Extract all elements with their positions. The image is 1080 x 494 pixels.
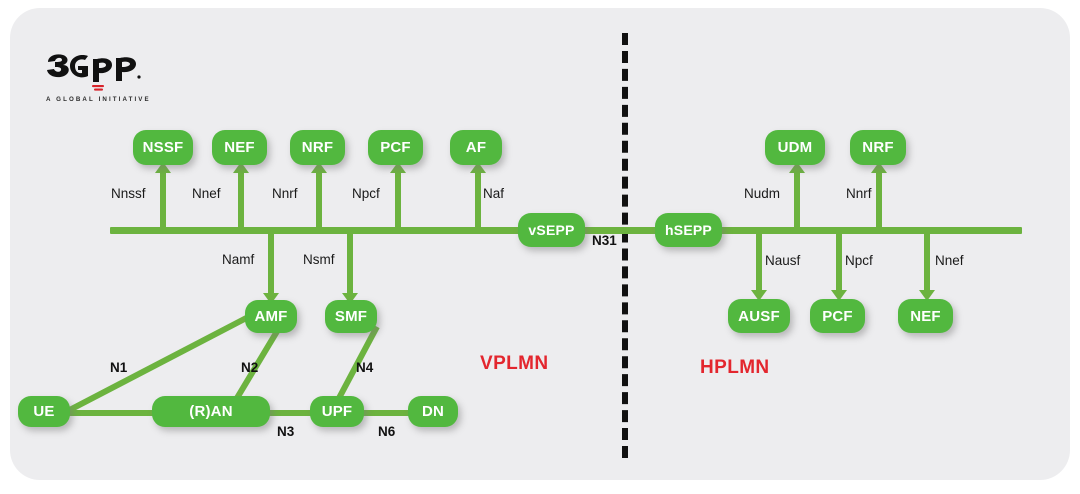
- node-label: AF: [466, 139, 486, 156]
- node-ausf[interactable]: AUSF: [728, 299, 790, 333]
- node-nrf-hplmn[interactable]: NRF: [850, 130, 906, 165]
- link-n6: [362, 410, 412, 416]
- interface-label-nnssf: Nnssf: [111, 186, 146, 201]
- reference-point-n4: N4: [356, 360, 373, 375]
- node-label: NEF: [224, 139, 255, 156]
- reference-point-n6: N6: [378, 424, 395, 439]
- node-label: NSSF: [143, 139, 184, 156]
- connector-nnef: [238, 172, 244, 230]
- node-amf[interactable]: AMF: [245, 300, 297, 333]
- node-nef-hplmn[interactable]: NEF: [898, 299, 953, 333]
- vplmn-service-bus: [110, 227, 550, 234]
- node-label: (R)AN: [189, 403, 233, 420]
- connector-naf: [475, 172, 481, 230]
- node-upf[interactable]: UPF: [310, 396, 364, 427]
- reference-point-n1: N1: [110, 360, 127, 375]
- connector-nnrf-hplmn: [876, 172, 882, 230]
- connector-namf: [268, 230, 274, 293]
- node-af[interactable]: AF: [450, 130, 502, 165]
- diagram-canvas: A GLOBAL INITIATIVE NSSF NEF NRF PCF AF …: [0, 0, 1080, 494]
- connector-nnssf: [160, 172, 166, 230]
- node-label: AMF: [254, 308, 287, 325]
- connector-npcf: [395, 172, 401, 230]
- plmn-boundary-divider: [622, 33, 628, 458]
- node-smf[interactable]: SMF: [325, 300, 377, 333]
- node-label: UE: [33, 403, 54, 420]
- 3gpp-logo-mark: [44, 52, 164, 100]
- node-label: PCF: [822, 308, 853, 325]
- node-label: UDM: [778, 139, 813, 156]
- node-hsepp[interactable]: hSEPP: [655, 213, 722, 247]
- interface-label-nsmf: Nsmf: [303, 252, 335, 267]
- connector-nausf: [756, 230, 762, 290]
- 3gpp-logo: A GLOBAL INITIATIVE: [44, 52, 164, 112]
- node-label: DN: [422, 403, 444, 420]
- interface-label-naf: Naf: [483, 186, 504, 201]
- node-vsepp[interactable]: vSEPP: [518, 213, 585, 247]
- node-label: NRF: [862, 139, 893, 156]
- node-nef-vplmn[interactable]: NEF: [212, 130, 267, 165]
- node-nrf-vplmn[interactable]: NRF: [290, 130, 345, 165]
- node-label: SMF: [335, 308, 367, 325]
- interface-label-namf: Namf: [222, 252, 254, 267]
- interface-label-nnef: Nnef: [192, 186, 221, 201]
- node-pcf-hplmn[interactable]: PCF: [810, 299, 865, 333]
- connector-nsmf: [347, 230, 353, 293]
- interface-label-npcf: Npcf: [352, 186, 380, 201]
- node-label: AUSF: [738, 308, 780, 325]
- connector-npcf-hplmn: [836, 230, 842, 290]
- node-label: NEF: [910, 308, 941, 325]
- node-label: NRF: [302, 139, 333, 156]
- interface-label-npcf-hplmn: Npcf: [845, 253, 873, 268]
- node-dn[interactable]: DN: [408, 396, 458, 427]
- node-nssf[interactable]: NSSF: [133, 130, 193, 165]
- node-label: vSEPP: [528, 222, 574, 238]
- node-label: hSEPP: [665, 222, 712, 238]
- interface-label-nnrf-hplmn: Nnrf: [846, 186, 872, 201]
- interface-label-nnrf: Nnrf: [272, 186, 298, 201]
- node-label: PCF: [380, 139, 411, 156]
- interface-label-nudm: Nudm: [744, 186, 780, 201]
- node-ue[interactable]: UE: [18, 396, 70, 427]
- connector-nnef-hplmn: [924, 230, 930, 290]
- vplmn-label: VPLMN: [480, 353, 549, 375]
- interface-label-nnef-hplmn: Nnef: [935, 253, 964, 268]
- interface-label-nausf: Nausf: [765, 253, 800, 268]
- connector-nudm: [794, 172, 800, 230]
- node-label: UPF: [322, 403, 353, 420]
- reference-point-n31: N31: [592, 233, 617, 248]
- node-ran[interactable]: (R)AN: [152, 396, 270, 427]
- node-pcf-vplmn[interactable]: PCF: [368, 130, 423, 165]
- reference-point-n3: N3: [277, 424, 294, 439]
- hplmn-service-bus: [690, 227, 1022, 234]
- node-udm[interactable]: UDM: [765, 130, 825, 165]
- connector-nnrf: [316, 172, 322, 230]
- logo-tagline: A GLOBAL INITIATIVE: [46, 96, 151, 103]
- reference-point-n2: N2: [241, 360, 258, 375]
- hplmn-label: HPLMN: [700, 357, 770, 379]
